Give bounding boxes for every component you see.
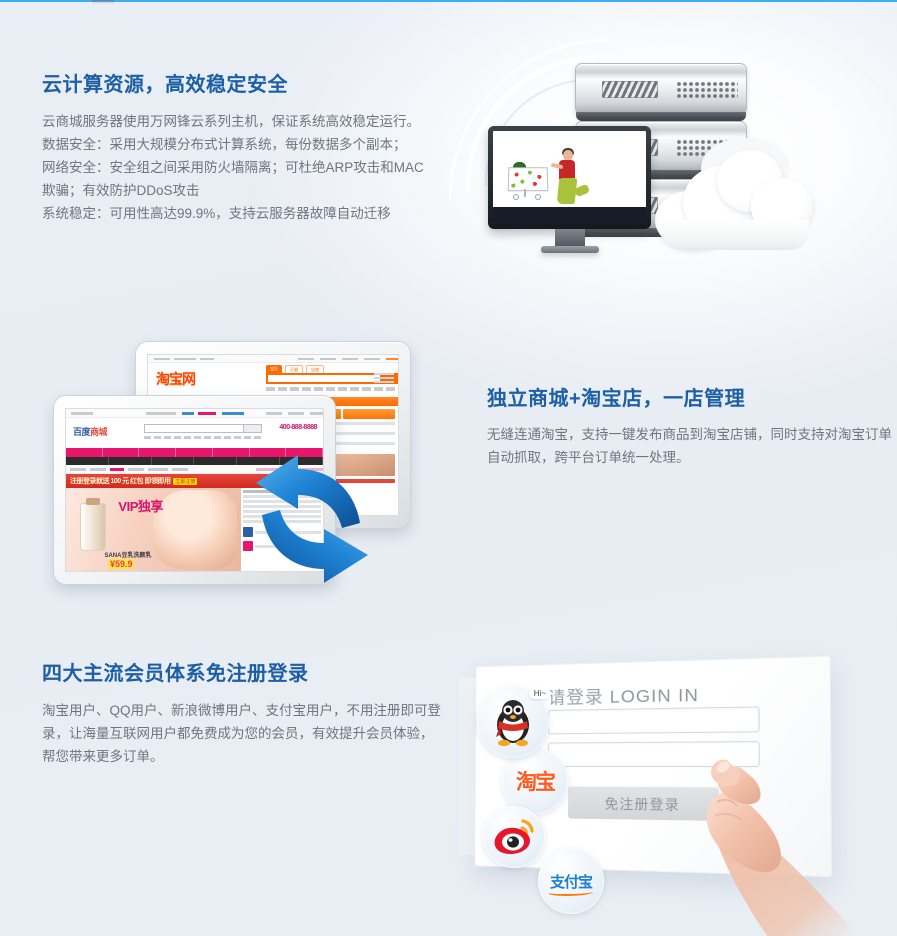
login-title-en: LOGIN IN [610, 685, 699, 707]
body-line: 无缝连通淘宝，支持一键发布商品到淘宝店铺，同时支持对淘宝订单 [487, 423, 877, 446]
login-panel-title: 请登录 LOGIN IN [548, 680, 699, 709]
taobao-header-side-links [374, 373, 394, 384]
qq-login-badge[interactable]: Hi~ [477, 686, 549, 758]
shop-search-button [243, 425, 261, 432]
qq-hi-bubble: Hi~ [529, 688, 551, 699]
shop-hotline: 400-888-8888 [279, 424, 317, 431]
palm [707, 793, 781, 873]
cart-wheel [513, 194, 519, 200]
section-login-illustration: 请登录 LOGIN IN 免注册登录 Hi~ 淘宝 [455, 648, 897, 936]
section-login-text: 四大主流会员体系免注册登录 淘宝用户、QQ用户、新浪微博用户、支付宝用户，不用注… [42, 657, 442, 768]
monitor-bezel [488, 126, 651, 229]
cart-wheel [535, 194, 541, 200]
weibo-icon [493, 818, 535, 856]
monitor-stand-base [541, 246, 599, 253]
shop-quick-links [144, 436, 264, 439]
body-line: 系统稳定：可用性高达99.9%，支持云服务器故障自动迁移 [42, 202, 442, 225]
hero-price: ¥59.9 [108, 559, 135, 569]
section-mall-taobao-illustration: 淘宝网 宝贝 天猫 店铺 [35, 333, 455, 595]
promo-text: 注册登录就送 100 元 红包 即领即用 [70, 476, 170, 486]
server-unit-top-icon [575, 63, 747, 115]
taobao-top-nav [148, 355, 398, 363]
taobao-icon: 淘宝 [516, 766, 554, 796]
product-bottle-icon [80, 503, 106, 551]
shop-header: 百度商城 400-888-8888 [66, 418, 323, 448]
desktop-monitor-icon [488, 126, 651, 253]
cart-basket [508, 167, 549, 191]
shop-hero-ad: VIP独享 SANA豆乳洗颜乳 ¥59.9 [66, 488, 241, 571]
section-mall-taobao-body: 无缝连通淘宝，支持一键发布商品到淘宝店铺，同时支持对淘宝订单 自动抓取，跨平台订… [487, 423, 877, 469]
qq-icon [490, 697, 536, 747]
section-mall-taobao-text: 独立商城+淘宝店，一店管理 无缝连通淘宝，支持一键发布商品到淘宝店铺，同时支持对… [487, 382, 877, 469]
section-login-heading: 四大主流会员体系免注册登录 [42, 657, 442, 686]
shopping-cart-icon [508, 167, 550, 200]
hero-vip-text: VIP独享 [118, 496, 162, 515]
login-title-cn: 请登录 [548, 687, 604, 708]
body-line: 帮您带来更多订单。 [42, 745, 412, 768]
body-line: 欺骗；有效防护DDoS攻击 [42, 179, 442, 202]
section-cloud-computing-text: 云计算资源，高效稳定安全 云商城服务器使用万网锋云系列主机，保证系统高效稳定运行… [42, 68, 442, 225]
section-cloud-computing-heading: 云计算资源，高效稳定安全 [42, 68, 442, 97]
body-line: 淘宝用户、QQ用户、新浪微博用户、支付宝用户，不用注册即可登 [42, 699, 412, 722]
cloud-base [661, 220, 809, 250]
server-vent-icon [602, 81, 658, 98]
body-line: 自动抓取，跨平台订单统一处理。 [487, 446, 877, 469]
username-input[interactable] [548, 706, 760, 734]
server-dot-grid-icon [676, 81, 738, 98]
shop-top-bar [66, 409, 323, 418]
body-line: 云商城服务器使用万网锋云系列主机，保证系统高效稳定运行。 [42, 110, 442, 133]
sync-arrows-icon [250, 453, 375, 583]
shopper-figure [549, 150, 589, 208]
server-shadow [576, 112, 746, 121]
taobao-header: 淘宝网 宝贝 天猫 店铺 [148, 363, 398, 397]
body-line: 录，让海量互联网用户都免费成为您的会员，有效提升会员体验， [42, 722, 412, 745]
alipay-icon: 支付宝 [550, 871, 592, 892]
promo-tag: 立即注册 [173, 478, 197, 485]
top-accent-bar [0, 0, 897, 2]
section-mall-taobao-heading: 独立商城+淘宝店，一店管理 [487, 382, 877, 411]
monitor-stand-neck [555, 229, 585, 246]
section-cloud-computing-illustration [420, 18, 890, 308]
cloud-icon [655, 148, 815, 253]
cart-post [524, 189, 526, 197]
shop-logo: 百度商城 [73, 425, 107, 438]
shopper-torso [559, 160, 575, 180]
monitor-taskbar [493, 207, 646, 224]
body-line: 网络安全：安全组之间采用防火墙隔离；可杜绝ARP攻击和MAC [42, 156, 442, 179]
hand-pointing-icon [683, 758, 858, 936]
taobao-hot-words [266, 387, 399, 391]
weibo-login-badge[interactable] [483, 806, 545, 868]
taobao-logo: 淘宝网 [156, 369, 195, 389]
section-login-body: 淘宝用户、QQ用户、新浪微博用户、支付宝用户，不用注册即可登 录，让海量互联网用… [42, 699, 412, 768]
shop-search-input [144, 424, 262, 433]
model-face-photo [153, 490, 237, 570]
body-line: 数据安全：采用大规模分布式计算系统，每份数据多个副本； [42, 133, 442, 156]
top-bar-notch [92, 0, 114, 4]
section-cloud-computing-body: 云商城服务器使用万网锋云系列主机，保证系统高效稳定运行。 数据安全：采用大规模分… [42, 110, 442, 225]
alipay-login-badge[interactable]: 支付宝 [538, 848, 604, 914]
monitor-screen [493, 131, 646, 224]
